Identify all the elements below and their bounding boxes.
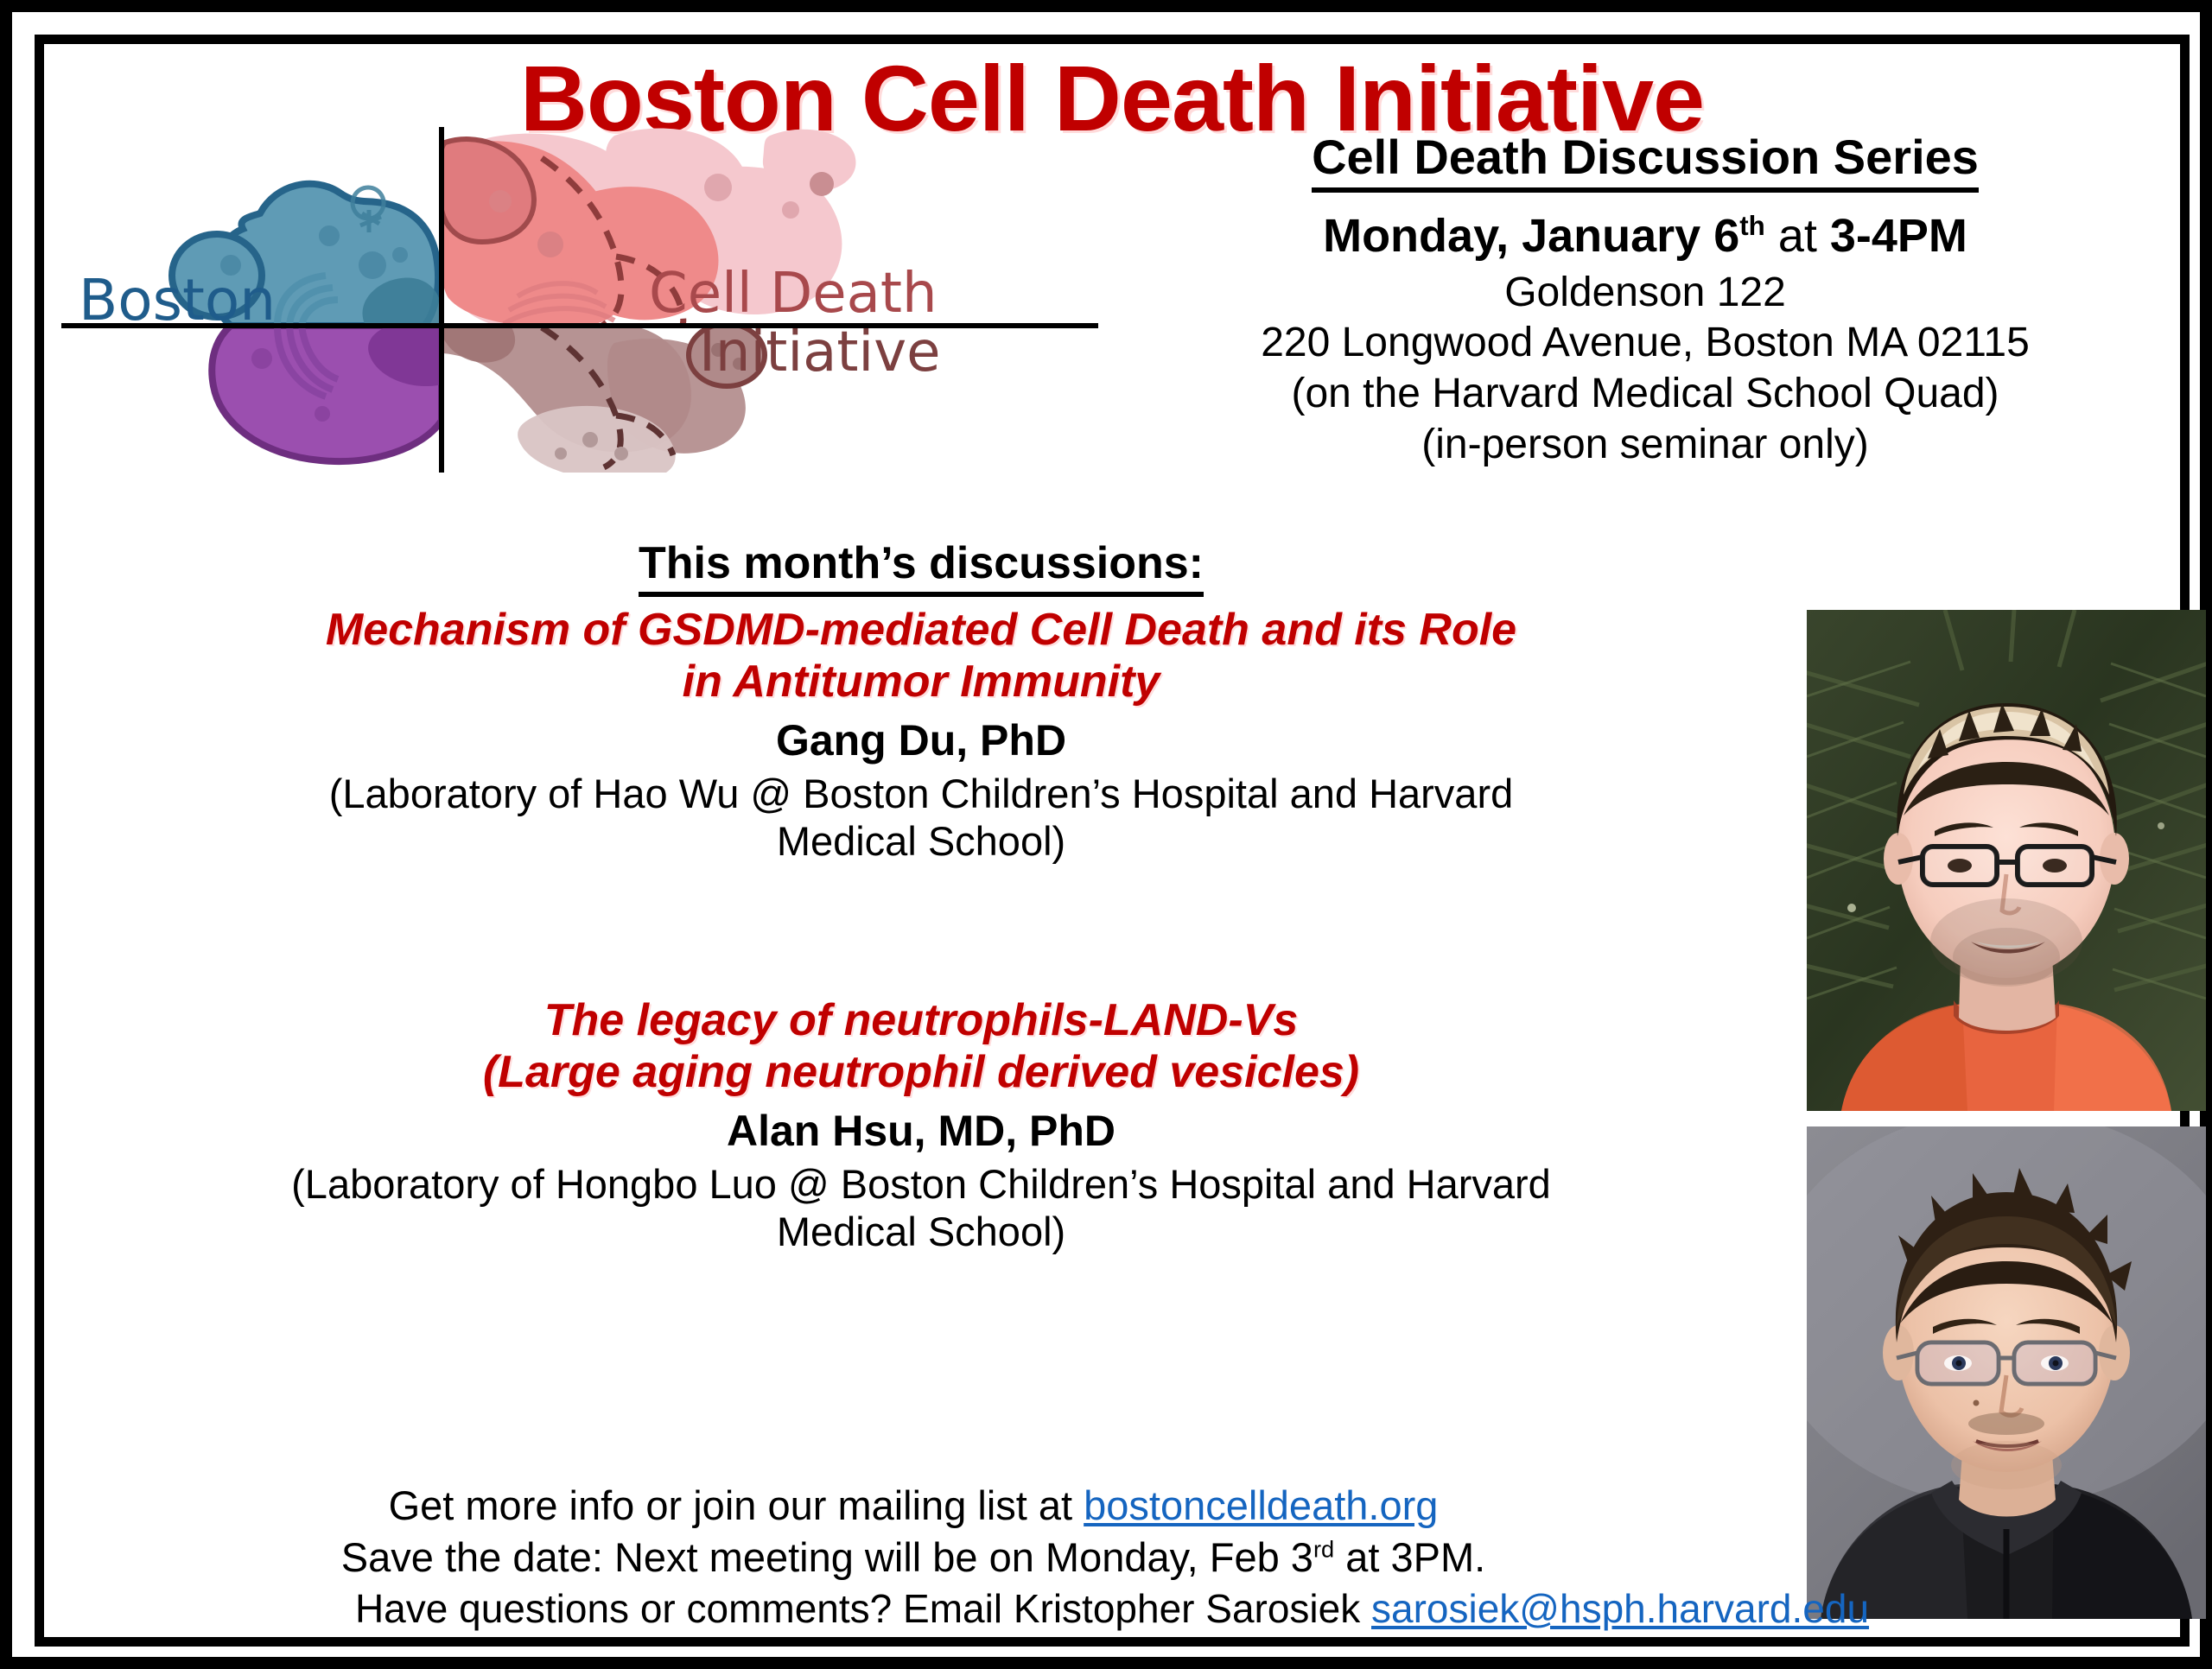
footer-save-date-prefix: Save the date: Next meeting will be on M… — [341, 1534, 1313, 1580]
talk-title-line: in Antitumor Immunity — [44, 656, 1798, 708]
talk-title: Mechanism of GSDMD-mediated Cell Death a… — [44, 604, 1798, 708]
event-room: Goldenson 122 — [1124, 268, 2166, 319]
talk-affiliation: (Laboratory of Hongbo Luo @ Boston Child… — [44, 1160, 1798, 1256]
talk-entry: The legacy of neutrophils-LAND-Vs (Large… — [44, 994, 1798, 1256]
footer-save-date-ordinal: rd — [1313, 1536, 1334, 1563]
talk-entry: Mechanism of GSDMD-mediated Cell Death a… — [44, 604, 1798, 866]
logo-purple-cell — [212, 326, 442, 461]
talk-title-line: (Large aging neutrophil derived vesicles… — [44, 1046, 1798, 1098]
headshot-gang-du — [1807, 610, 2206, 1111]
email-link[interactable]: sarosiek@hsph.harvard.edu — [1371, 1586, 1869, 1631]
talk-affiliation-line: (Laboratory of Hao Wu @ Boston Children’… — [44, 770, 1798, 817]
event-campus-note: (on the Harvard Medical School Quad) — [1124, 369, 2166, 420]
discussions-heading-wrap: This month’s discussions: — [44, 538, 1798, 597]
event-datetime: Monday, January 6th at 3-4PM — [1124, 208, 2166, 264]
poster-inner-border: Boston Cell Death Initiative — [35, 35, 2190, 1647]
logo-word-initiative: Initiative — [699, 320, 940, 384]
footer-contact-prefix: Have questions or comments? Email Kristo… — [355, 1586, 1371, 1631]
poster-canvas: Boston Cell Death Initiative — [44, 44, 2180, 1637]
talk-title-line: Mechanism of GSDMD-mediated Cell Death a… — [44, 604, 1798, 656]
event-at-word: at — [1765, 210, 1830, 262]
talk-affiliation-line: (Laboratory of Hongbo Luo @ Boston Child… — [44, 1160, 1798, 1208]
event-day-ordinal: th — [1739, 211, 1765, 241]
footer-mailing-list-line: Get more info or join our mailing list a… — [44, 1480, 2180, 1532]
series-heading: Cell Death Discussion Series — [1312, 129, 1979, 193]
footer-info-prefix: Get more info or join our mailing list a… — [389, 1482, 1084, 1528]
event-day: Monday, January 6 — [1323, 210, 1739, 262]
talk-title: The legacy of neutrophils-LAND-Vs (Large… — [44, 994, 1798, 1099]
talk-affiliation: (Laboratory of Hao Wu @ Boston Children’… — [44, 770, 1798, 866]
event-format-note: (in-person seminar only) — [1124, 420, 2166, 471]
talk-affiliation-line: Medical School) — [44, 1208, 1798, 1255]
talk-affiliation-line: Medical School) — [44, 817, 1798, 865]
event-details-block: Cell Death Discussion Series Monday, Jan… — [1124, 129, 2166, 470]
talk-speaker: Gang Du, PhD — [44, 715, 1798, 766]
footer-save-the-date-line: Save the date: Next meeting will be on M… — [44, 1532, 2180, 1583]
footer-contact-line: Have questions or comments? Email Kristo… — [44, 1583, 2180, 1634]
talk-speaker: Alan Hsu, MD, PhD — [44, 1106, 1798, 1157]
logo-word-boston: Boston — [79, 267, 276, 333]
website-link[interactable]: bostoncelldeath.org — [1084, 1482, 1438, 1528]
talk-title-line: The legacy of neutrophils-LAND-Vs — [44, 994, 1798, 1046]
event-address: 220 Longwood Avenue, Boston MA 02115 — [1124, 318, 2166, 369]
discussions-heading: This month’s discussions: — [639, 538, 1204, 597]
logo-word-cell-death: Cell Death — [649, 262, 938, 326]
bcdi-logo: Boston Cell Death Initiative — [61, 127, 1133, 473]
footer: Get more info or join our mailing list a… — [44, 1480, 2180, 1634]
footer-save-date-suffix: at 3PM. — [1334, 1534, 1485, 1580]
poster-outer-border: Boston Cell Death Initiative — [0, 0, 2212, 1669]
event-time: 3-4PM — [1830, 210, 1967, 262]
